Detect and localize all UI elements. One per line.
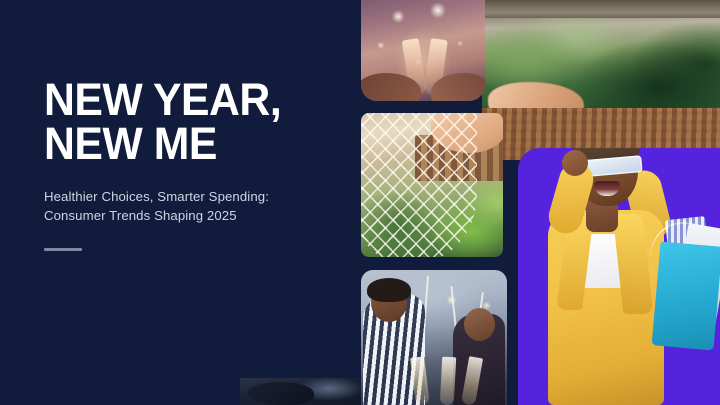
presentation-slide: NEW YEAR, NEW ME Healthier Choices, Smar… xyxy=(0,0,720,405)
sparklers-person-right-head xyxy=(464,308,495,341)
market-shelf-detail xyxy=(482,0,720,18)
mesh-netting-detail xyxy=(361,113,477,257)
shopping-bag-teal xyxy=(652,241,720,350)
title-block: NEW YEAR, NEW ME Healthier Choices, Smar… xyxy=(44,78,344,251)
sparklers-glass-middle xyxy=(440,357,456,405)
accent-rule xyxy=(44,248,82,251)
sparklers-person-left-hair xyxy=(367,278,411,302)
champagne-toast-photo xyxy=(361,0,485,101)
page-title: NEW YEAR, NEW ME xyxy=(44,78,329,166)
market-kale-photo xyxy=(482,0,720,160)
subtitle: Healthier Choices, Smarter Spending: Con… xyxy=(44,188,344,225)
bottom-photo-bleed xyxy=(240,378,364,405)
shopper-raised-hand xyxy=(562,150,588,176)
bleed-silhouette-detail xyxy=(248,382,314,405)
sparklers-group-photo xyxy=(361,270,507,405)
mesh-produce-bag-photo xyxy=(361,113,503,257)
shopper-purple-panel xyxy=(518,148,720,405)
